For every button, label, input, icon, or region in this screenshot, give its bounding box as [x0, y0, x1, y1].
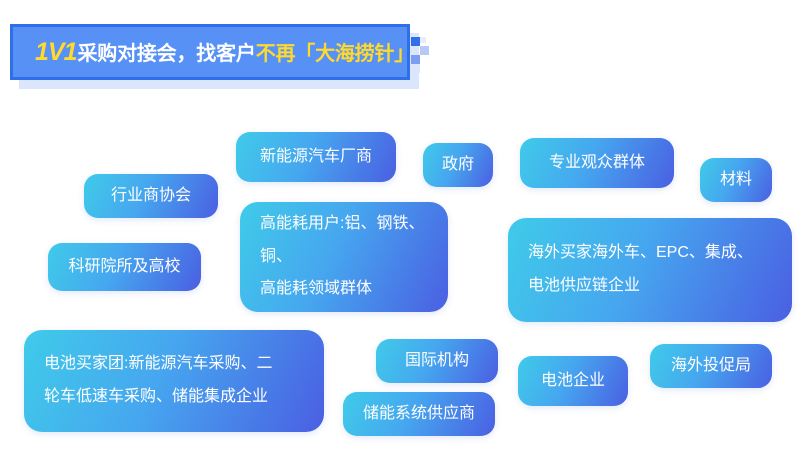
- card-overseas-buyers[interactable]: 海外买家海外车、EPC、集成、 电池供应链企业: [508, 218, 792, 322]
- pixel-decoration-3: [411, 55, 420, 64]
- pixel-decoration-2: [420, 46, 429, 55]
- banner-title-middle: 采购对接会，找客户: [77, 43, 255, 65]
- card-research-institutes-universities[interactable]: 科研院所及高校: [48, 243, 201, 291]
- card-label: 国际机构: [376, 347, 498, 375]
- card-international-organization[interactable]: 国际机构: [376, 339, 498, 383]
- card-battery-enterprise[interactable]: 电池企业: [518, 356, 628, 406]
- card-new-energy-vehicle-maker[interactable]: 新能源汽车厂商: [236, 132, 396, 182]
- card-battery-buyer-group[interactable]: 电池买家团:新能源汽车采购、二 轮车低速车采购、储能集成企业: [24, 330, 324, 432]
- card-label: 海外买家海外车、EPC、集成、 电池供应链企业: [508, 237, 792, 303]
- banner-frame: 1V1采购对接会，找客户不再「大海捞针」: [10, 24, 410, 80]
- card-label: 专业观众群体: [520, 149, 674, 177]
- banner-title: 1V1采购对接会，找客户不再「大海捞针」: [35, 40, 414, 65]
- card-label: 政府: [423, 151, 493, 179]
- card-professional-visitors[interactable]: 专业观众群体: [520, 138, 674, 188]
- card-materials[interactable]: 材料: [700, 158, 772, 202]
- card-label: 储能系统供应商: [343, 400, 495, 428]
- card-overseas-investment-bureau[interactable]: 海外投促局: [650, 344, 772, 388]
- card-label: 海外投促局: [650, 352, 772, 380]
- card-label: 材料: [700, 166, 772, 194]
- card-label: 行业商协会: [84, 182, 218, 210]
- card-label: 新能源汽车厂商: [236, 143, 396, 171]
- header-banner: 1V1采购对接会，找客户不再「大海捞针」: [10, 24, 410, 80]
- pixel-decoration-1: [411, 37, 420, 46]
- pixel-decoration-5: [420, 37, 426, 43]
- card-label: 电池买家团:新能源汽车采购、二 轮车低速车采购、储能集成企业: [24, 348, 324, 414]
- card-label: 电池企业: [518, 367, 628, 395]
- card-high-energy-consumption-users[interactable]: 高能耗用户:铝、钢铁、铜、 高能耗领域群体: [240, 202, 448, 312]
- card-industry-association[interactable]: 行业商协会: [84, 174, 218, 218]
- slide-canvas: 1V1采购对接会，找客户不再「大海捞针」 行业商协会 新能源汽车厂商 政府 专业…: [0, 0, 800, 461]
- card-label: 高能耗用户:铝、钢铁、铜、 高能耗领域群体: [240, 208, 448, 306]
- card-energy-storage-system-supplier[interactable]: 储能系统供应商: [343, 392, 495, 436]
- card-government[interactable]: 政府: [423, 143, 493, 187]
- pixel-decoration-4: [411, 64, 420, 73]
- banner-title-highlight: 不再「大海捞针」: [256, 43, 414, 65]
- banner-inner-fill: 1V1采购对接会，找客户不再「大海捞针」: [13, 27, 407, 77]
- banner-title-prefix: 1V1: [35, 38, 77, 66]
- card-label: 科研院所及高校: [48, 253, 201, 281]
